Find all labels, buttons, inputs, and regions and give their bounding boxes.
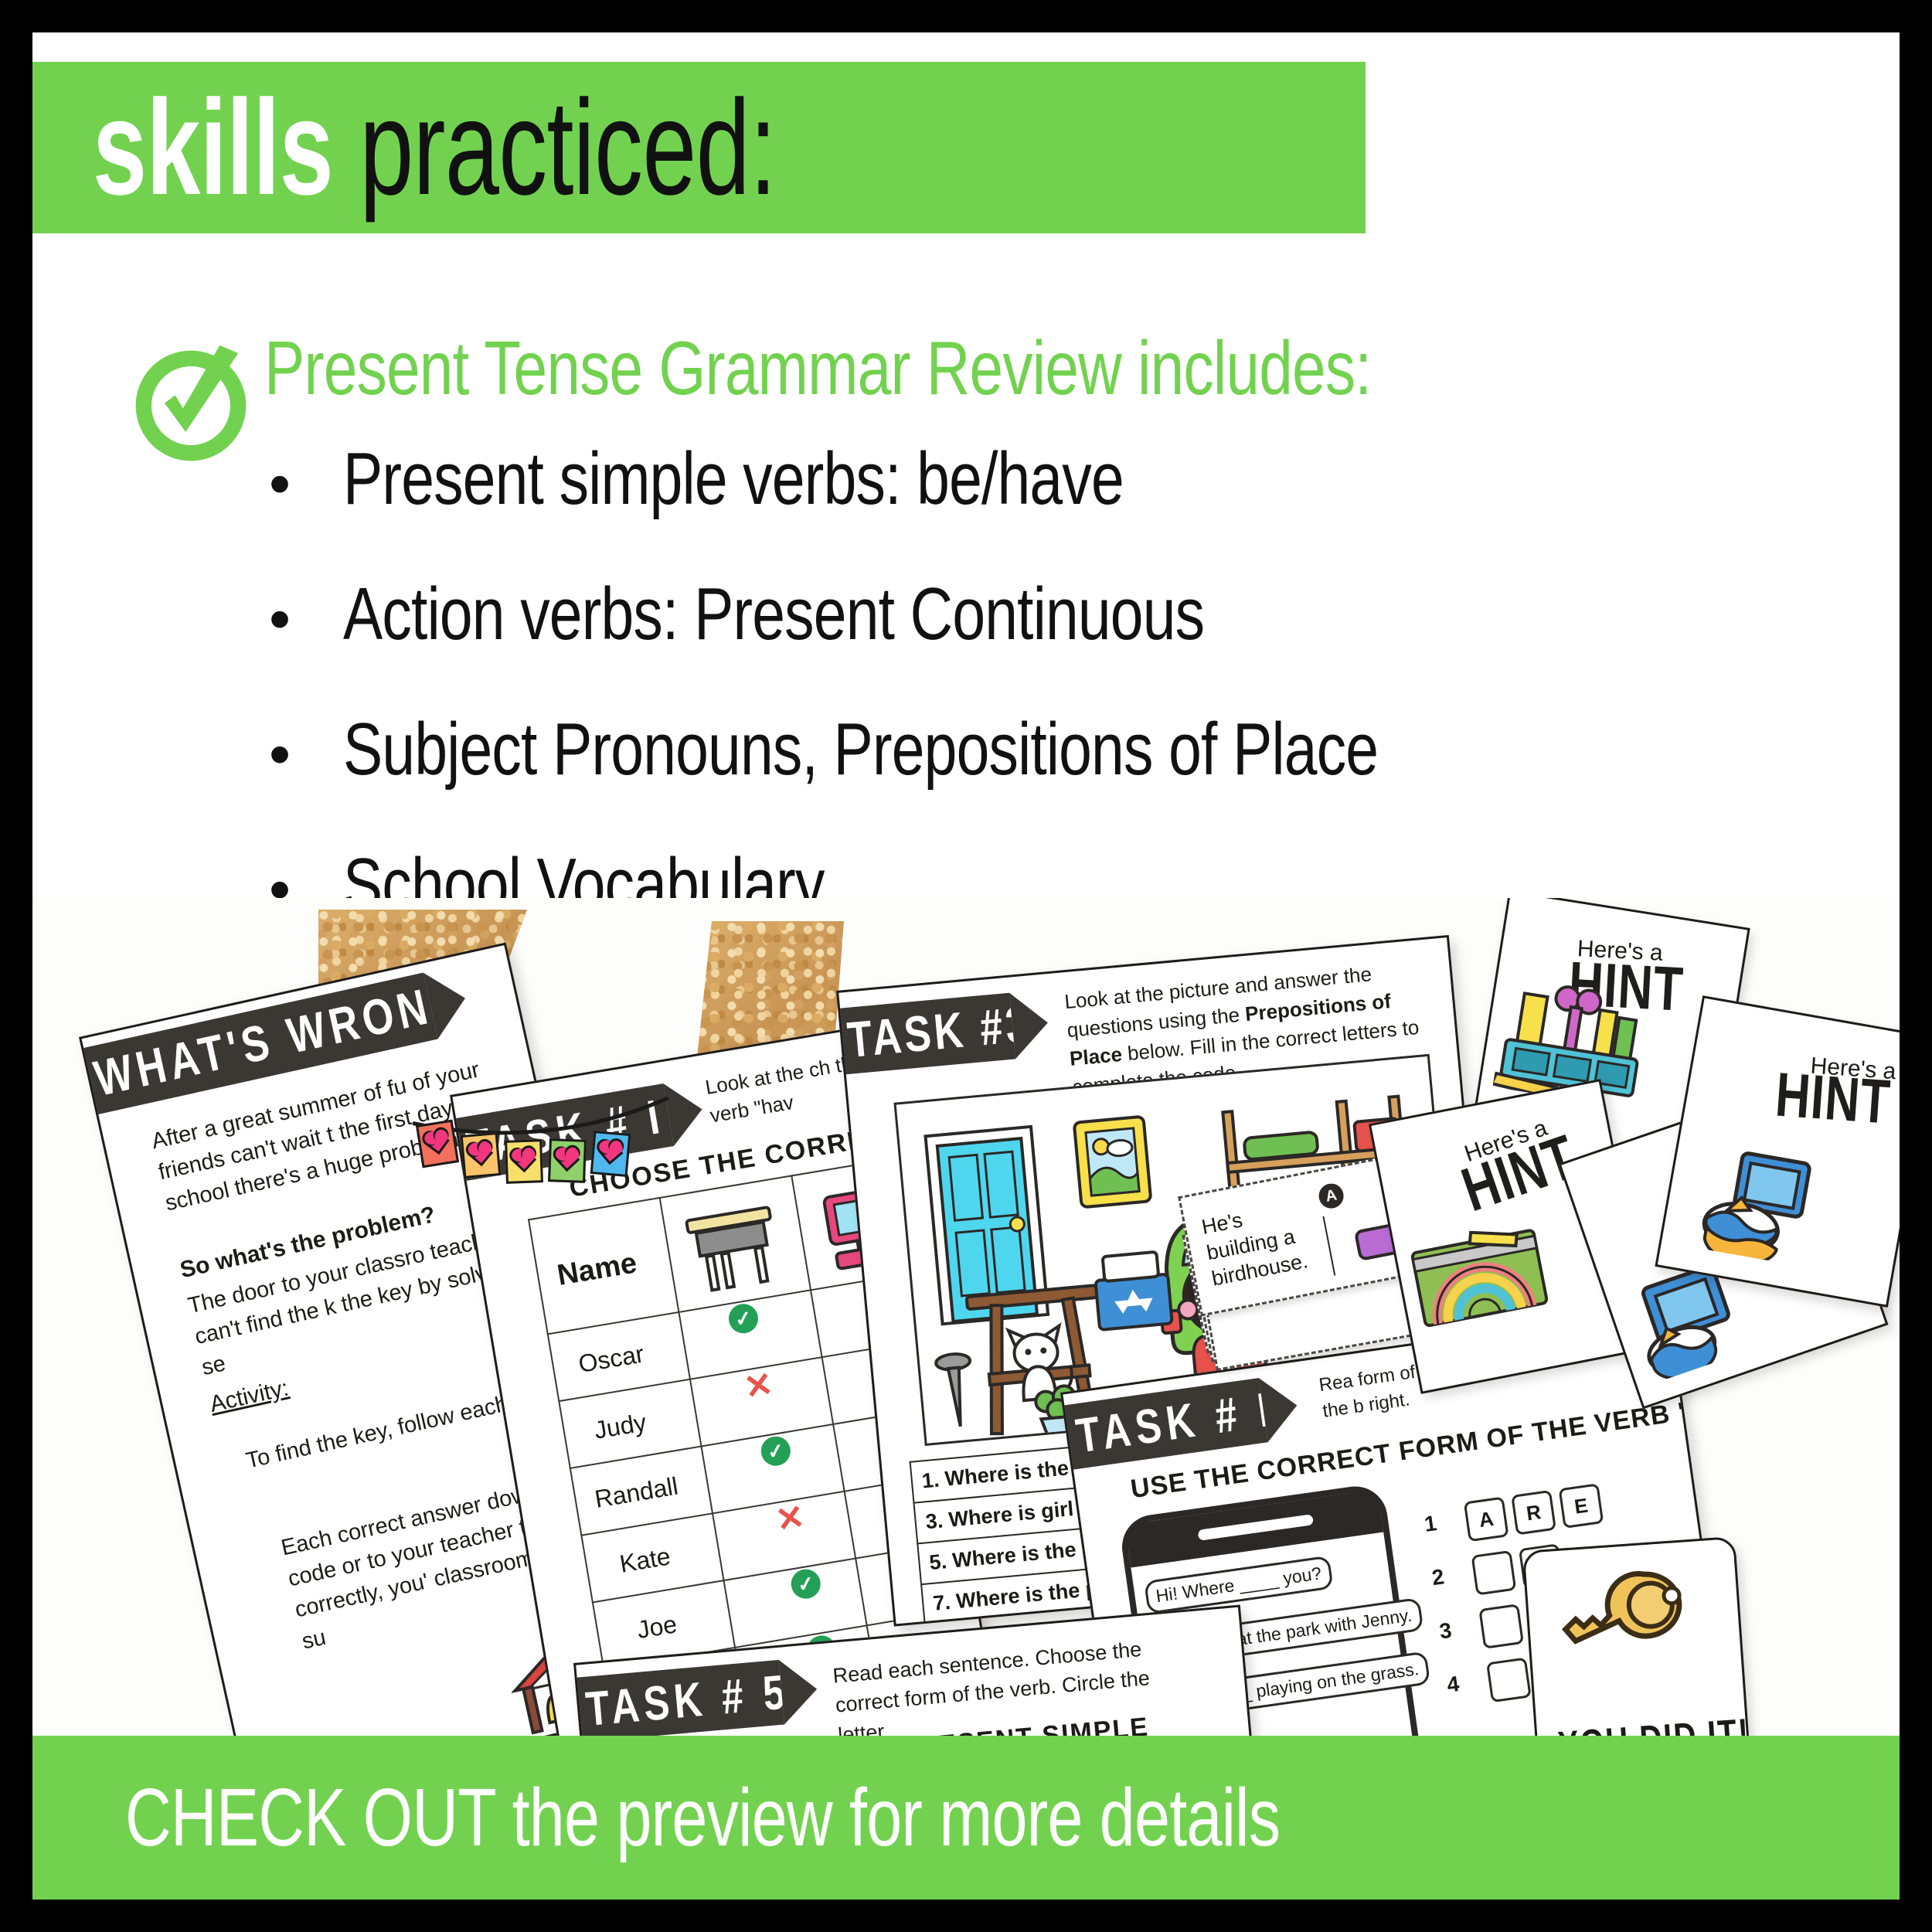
bunting-flag (461, 1132, 502, 1179)
header-banner: skills practiced: (32, 62, 1366, 233)
task3-title: TASK #3 (836, 995, 1033, 1072)
bullet-marker: • (264, 588, 295, 650)
bullet-label: Action verbs: Present Continuous (343, 577, 1204, 651)
page-title: skills practiced: (93, 86, 776, 210)
table-row: Randall (593, 1471, 680, 1513)
band-arrow-tip (779, 1657, 820, 1725)
code-cell[interactable] (1471, 1550, 1517, 1596)
subtitle-text: Present Tense Grammar Review includes: (264, 325, 1371, 412)
code-row-number: 3 (1438, 1618, 1454, 1645)
band-arrow-tip (1009, 990, 1051, 1060)
tablet-backpack-icon (1692, 1141, 1825, 1271)
table-row: Oscar (577, 1339, 646, 1379)
status-badge-cross: ✕ (774, 1502, 808, 1536)
card-badge-a: A (1317, 1182, 1346, 1211)
bullet-marker: • (264, 723, 295, 785)
code-cell[interactable] (1486, 1657, 1532, 1702)
list-item: • Present simple verbs: be/have (264, 442, 1856, 577)
code-cell[interactable]: E (1559, 1483, 1604, 1529)
bullet-label: Subject Pronouns, Prepositions of Place (343, 713, 1378, 787)
footer-cta-text: CHECK OUT the preview for more details (125, 1771, 1280, 1865)
bunting-flag (590, 1131, 631, 1177)
status-badge-check: ✓ (789, 1567, 823, 1601)
nail-icon (933, 1349, 979, 1437)
desk-icon (681, 1202, 787, 1301)
status-badge-cross: ✕ (742, 1369, 776, 1403)
table-row: Kate (617, 1542, 672, 1578)
bunting-flag (416, 1120, 459, 1168)
mini-card-text: He's building a birdhouse. (1199, 1195, 1321, 1292)
code-row-number: 1 (1423, 1511, 1438, 1537)
code-row-number: 4 (1445, 1672, 1461, 1698)
code-cell[interactable] (1478, 1604, 1524, 1649)
list-item: • Action verbs: Present Continuous (264, 577, 1856, 713)
card-divider (1322, 1216, 1335, 1276)
sheet-title-band: TASK #3 (836, 993, 1015, 1076)
code-cell[interactable]: R (1511, 1490, 1556, 1536)
sheet-title-band: TASK # 5 (573, 1660, 784, 1743)
table-row: Judy (592, 1408, 648, 1445)
hint-card-big-label: HINT (1774, 1060, 1893, 1138)
bullet-label: Present simple verbs: be/have (343, 442, 1124, 516)
list-item: • Subject Pronouns, Prepositions of Plac… (264, 713, 1856, 848)
gold-key-icon (1553, 1563, 1707, 1692)
task5-title: TASK # 5 (573, 1664, 791, 1739)
code-row-number: 2 (1430, 1564, 1446, 1590)
poster-page: skills practiced: Present Tense Grammar … (32, 32, 1900, 1900)
table-header-name: Name (555, 1247, 639, 1292)
footer-banner: CHECK OUT the preview for more details (32, 1736, 1900, 1900)
bullet-marker: • (264, 453, 295, 515)
title-word-skills: skills (93, 73, 333, 223)
worksheet-photo-collage: WHAT'S WRONG? After a great summer of fu… (32, 898, 1900, 1810)
crayon-box-rainbow-icon (1404, 1212, 1557, 1344)
check-circle-icon (125, 340, 257, 471)
bunting-flag (548, 1138, 587, 1183)
status-badge-check: ✓ (726, 1301, 760, 1335)
status-badge-check: ✓ (759, 1434, 793, 1468)
code-cell[interactable]: A (1464, 1497, 1509, 1543)
bunting-flag (505, 1139, 543, 1184)
title-word-practiced: practiced: (333, 73, 776, 223)
table-row: Joe (635, 1610, 679, 1645)
